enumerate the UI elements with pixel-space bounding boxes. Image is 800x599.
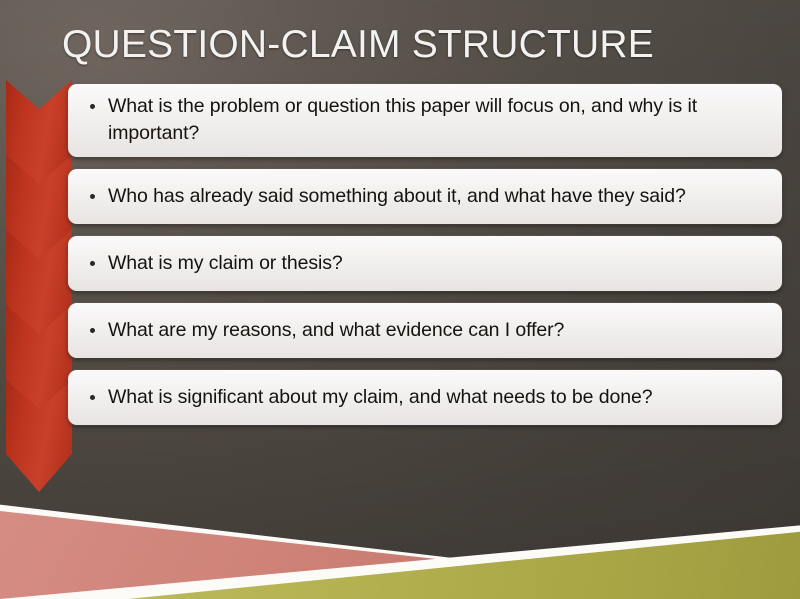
chevron-arrow-column (6, 80, 72, 478)
list-item: What is the problem or question this pap… (68, 84, 782, 157)
list-item-label: Who has already said something about it,… (108, 183, 766, 210)
list-item-label: What is the problem or question this pap… (108, 93, 766, 147)
list-item: What is significant about my claim, and … (68, 370, 782, 425)
slide-footer-decoration (0, 439, 800, 599)
bullet-point-icon (90, 395, 95, 400)
list-item-label: What is significant about my claim, and … (108, 384, 766, 411)
page-title: QUESTION-CLAIM STRUCTURE (62, 22, 762, 68)
bullet-point-icon (90, 194, 95, 199)
bullet-point-icon (90, 328, 95, 333)
presentation-slide: QUESTION-CLAIM STRUCTURE What is the pro… (0, 0, 800, 599)
list-item-label: What is my claim or thesis? (108, 250, 766, 277)
list-item: Who has already said something about it,… (68, 169, 782, 224)
bullet-point-icon (90, 104, 95, 109)
list-item: What is my claim or thesis? (68, 236, 782, 291)
list-item-label: What are my reasons, and what evidence c… (108, 317, 766, 344)
list-item: What are my reasons, and what evidence c… (68, 303, 782, 358)
bullet-list: What is the problem or question this pap… (68, 84, 782, 437)
bullet-point-icon (90, 261, 95, 266)
